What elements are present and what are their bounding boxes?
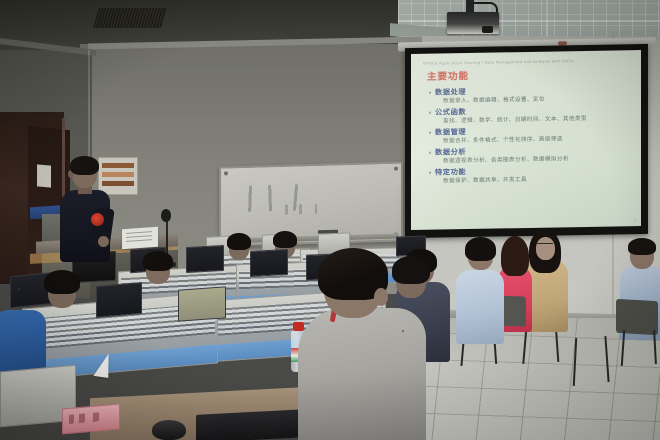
- monitor: [186, 245, 224, 273]
- projector-icon: [447, 12, 499, 34]
- monitor-spacer: [18, 288, 20, 290]
- person-torso: [456, 270, 504, 344]
- note-line: [126, 239, 152, 242]
- note-line: [126, 235, 152, 238]
- person-hair: [227, 233, 251, 250]
- student-at-workstation: [226, 232, 252, 260]
- slide-page-number: 7: [634, 219, 636, 223]
- microphone-icon: [161, 209, 171, 222]
- presenter-hand: [98, 236, 109, 247]
- pink-desk-label: [62, 403, 120, 434]
- screen-surface: OFFICE Application Training | Data Manag…: [411, 50, 641, 230]
- monitor-powered-on: [178, 286, 226, 321]
- ceiling-beam-horizontal: [398, 20, 660, 22]
- label-text-scribble: [69, 411, 109, 423]
- student-at-workstation: [142, 250, 174, 284]
- presenter: [58, 158, 122, 262]
- monitor: [250, 249, 288, 277]
- presenter-hair: [70, 156, 99, 175]
- slide-header-text: OFFICE Application Training | Data Manag…: [423, 58, 632, 66]
- wall-notice-paper: [37, 164, 51, 187]
- student-at-workstation: [388, 256, 434, 316]
- person-hair: [273, 231, 297, 248]
- person-face: [536, 237, 555, 260]
- projection-screen: OFFICE Application Training | Data Manag…: [405, 44, 648, 238]
- person-hair: [392, 256, 430, 284]
- man-light-blue-shirt: [456, 238, 502, 342]
- projector-lens: [482, 26, 493, 33]
- person-hair: [44, 270, 80, 294]
- person-torso: [298, 308, 426, 440]
- monitor: [96, 282, 142, 318]
- presenter-notes: [122, 227, 158, 250]
- slide-section: 公式函数 查找、逻辑、数学、统计、日期时间、文本、其他类型: [429, 104, 632, 127]
- note-line: [126, 231, 152, 234]
- folded-paper: [93, 352, 111, 378]
- student-at-workstation: [42, 268, 82, 312]
- whiteboard-corner: [394, 167, 398, 171]
- classroom-photo: OFFICE Application Training | Data Manag…: [0, 0, 660, 440]
- air-vent-icon: [93, 8, 167, 28]
- slide-section: 数据处理 数据录入、数据编辑、格式设置、定位: [429, 84, 632, 107]
- presentation-slide: OFFICE Application Training | Data Manag…: [411, 50, 641, 230]
- whiteboard-writing: [281, 203, 341, 215]
- person-hair: [143, 251, 173, 271]
- slide-section: 特定功能 数据保护、数据共享、开发工具: [429, 164, 632, 187]
- person-hair: [501, 236, 529, 276]
- slide-title: 主要功能: [427, 65, 632, 83]
- keyboard[interactable]: [196, 409, 306, 440]
- eyeglasses-icon: [536, 243, 553, 248]
- person-hair: [628, 238, 656, 255]
- shirt-logo: [91, 213, 104, 226]
- chair-spacer: [402, 330, 404, 332]
- computer-mouse[interactable]: [152, 420, 186, 440]
- slide-section: 数据分析 数据透视表分析、各类图表分析、数据模拟分析: [429, 144, 632, 167]
- person-ear: [374, 288, 388, 306]
- slide-section: 数据管理 数据合并、条件格式、个性化排序、高级筛选: [429, 124, 632, 147]
- person-hair: [465, 237, 496, 261]
- whiteboard-corner: [224, 171, 228, 175]
